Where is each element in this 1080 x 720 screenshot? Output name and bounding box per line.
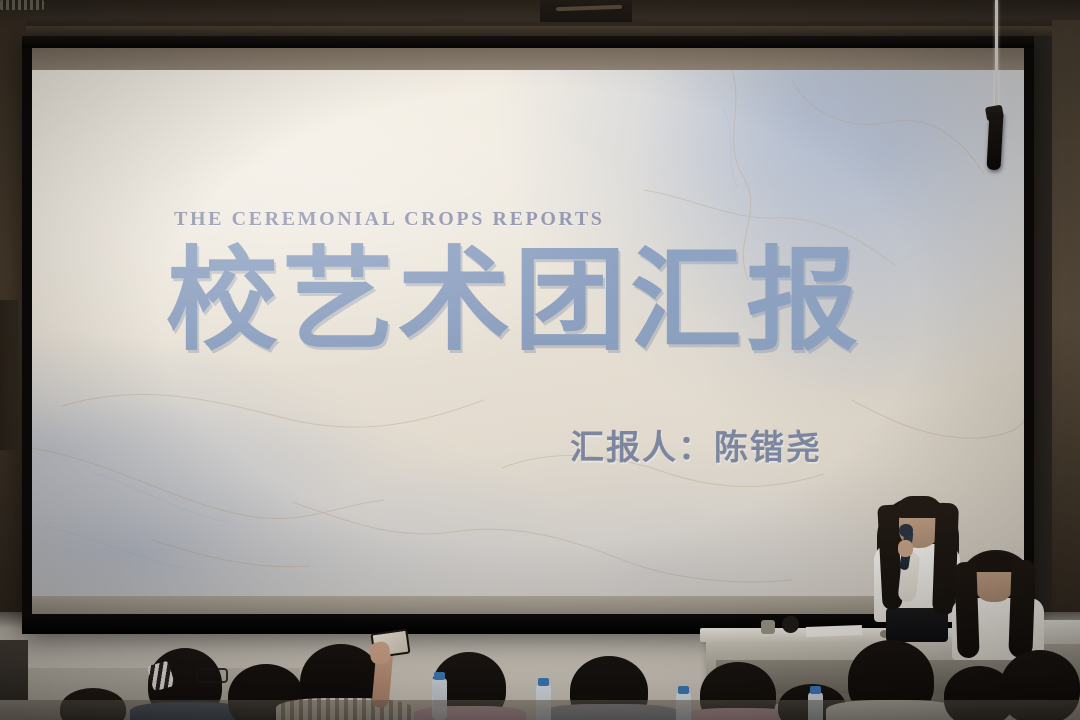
slide-canvas: THE CEREMONIAL CROPS REPORTS 校艺术团汇报 汇报人：… [32,70,1024,596]
microphone-base-icon [782,616,799,633]
floor-line [0,700,1080,720]
seated-presenter-shirt-print [0,0,44,10]
left-cabinet [0,640,28,700]
wall-left-panel [0,300,18,450]
seated-presenter-hair-right [1008,560,1035,659]
bottle-cap-icon [434,672,445,680]
presentation-photo: THE CEREMONIAL CROPS REPORTS 校艺术团汇报 汇报人：… [0,0,1080,720]
wall-right [1052,20,1080,620]
slide-eyebrow: THE CEREMONIAL CROPS REPORTS [174,208,605,231]
seated-presenter-fringe [972,552,1016,572]
projector-screen: THE CEREMONIAL CROPS REPORTS 校艺术团汇报 汇报人：… [32,48,1024,614]
glasses-icon [196,668,228,683]
bottle-cap-icon [678,686,689,694]
screen-upper-margin [32,48,1024,70]
podium-paper [806,625,862,637]
seated-presenter-hair-left [954,562,979,659]
microphone-head-icon [899,524,913,537]
standing-presenter-hand [898,540,913,557]
screen-top-bar [22,36,1034,48]
screen-pull-cord[interactable] [995,0,998,118]
bottle-cap-icon [810,686,821,694]
ceiling-vent [540,0,632,22]
slide-presenter-line: 汇报人：陈锴尧 [570,420,822,469]
podium-device-icon [761,620,775,634]
slide-title: 校艺术团汇报 [166,242,862,360]
bottle-cap-icon [538,678,549,686]
ceiling-beam [0,26,1080,36]
